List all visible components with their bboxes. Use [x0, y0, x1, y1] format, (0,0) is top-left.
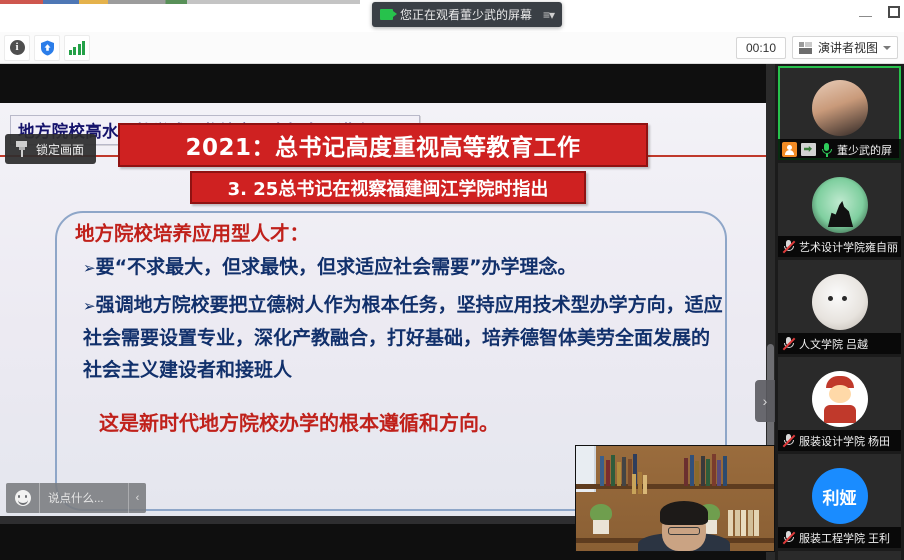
meeting-timer: 00:10	[736, 37, 786, 59]
person-icon	[782, 142, 797, 157]
layout-icon	[799, 42, 813, 54]
participant-tile[interactable]: 利娅 服装工程学院 王利	[778, 454, 901, 548]
participant-name: 服装设计学院 杨田	[799, 433, 890, 449]
screen-share-icon	[801, 143, 816, 156]
mic-off-icon	[782, 337, 795, 351]
view-mode-label: 演讲者视图	[818, 39, 878, 56]
panel-collapse-toggle[interactable]: ›	[755, 380, 775, 422]
slide-lead-line: 地方院校培养应用型人才：	[75, 217, 309, 246]
screen-share-icon	[380, 9, 393, 20]
participant-tile[interactable]: 艺术设计学院雍自丽	[778, 163, 901, 257]
bullet-marker-icon: ➢	[83, 259, 96, 277]
info-icon[interactable]: i	[4, 35, 30, 61]
slide-banner-main: 2021：总书记高度重视高等教育工作	[118, 123, 648, 167]
slide-bullet-1-text: 要“不求最大，但求最快，但求适应社会需要”办学理念。	[96, 256, 577, 278]
slide-bullet-2-text: 强调地方院校要把立德树人作为根本任务，坚持应用技术型办学方向，适应社会需要设置专…	[83, 294, 723, 381]
bookshelf-props	[684, 452, 727, 486]
browser-tab-strip-remnant	[0, 0, 360, 4]
share-banner-text: 您正在观看董少武的屏幕	[400, 6, 532, 23]
view-mode-selector[interactable]: 演讲者视图	[792, 36, 898, 59]
mic-off-icon	[782, 434, 795, 448]
participant-nameplate: 人文学院 吕越	[778, 333, 901, 354]
glasses-prop	[668, 527, 700, 535]
slide-bullet-2: ➢强调地方院校要把立德树人作为根本任务，坚持应用技术型办学方向，适应社会需要设置…	[83, 289, 728, 386]
chat-composer[interactable]: 说点什么... ‹	[6, 483, 146, 513]
avatar	[812, 177, 868, 233]
participant-name: 服装工程学院 王利	[799, 530, 890, 546]
more-menu-icon[interactable]: ≡▾	[539, 8, 554, 22]
network-signal-icon[interactable]	[64, 35, 90, 61]
participant-nameplate: 董少武的屏	[778, 139, 901, 160]
toolbar-left-group: i	[0, 35, 90, 61]
lock-screen-label: 锁定画面	[36, 141, 84, 158]
participant-tile[interactable]: 人文学院 吕越	[778, 260, 901, 354]
participant-tile[interactable]: 服装设计学院 杨田	[778, 357, 901, 451]
lock-screen-button[interactable]: 锁定画面	[5, 134, 96, 164]
shared-screen-stage[interactable]: 锁定画面 地方院校高水平教学成果奖培育与申报专题讲座 2021：总书记高度重视高…	[0, 64, 775, 560]
emoji-icon[interactable]	[6, 483, 40, 513]
slide-banner-sub-text: 3. 25总书记在视察福建闽江学院时指出	[228, 175, 549, 201]
bookshelf-props	[632, 460, 647, 494]
plant-prop	[590, 504, 612, 534]
meeting-window: 您正在观看董少武的屏幕 ≡▾ i 00:	[0, 0, 904, 560]
composer-collapse-icon[interactable]: ‹	[128, 483, 146, 513]
chevron-down-icon	[883, 46, 891, 50]
participant-nameplate: 艺术设计学院雍自丽	[778, 236, 901, 257]
bullet-marker-icon: ➢	[83, 297, 96, 315]
pin-icon	[15, 141, 28, 157]
participant-name: 人文学院 吕越	[799, 336, 868, 352]
participant-name: 董少武的屏	[837, 142, 892, 158]
slide-banner-main-text: 2021：总书记高度重视高等教育工作	[185, 128, 580, 162]
avatar	[812, 80, 868, 136]
screen-share-banner[interactable]: 您正在观看董少武的屏幕 ≡▾	[372, 2, 562, 27]
presenter-video-pip[interactable]	[575, 445, 775, 552]
participant-rail[interactable]: 董少武的屏 艺术设计学院雍自丽 人文学院 吕越 服装设计学院 杨田	[775, 64, 904, 560]
mic-on-icon	[820, 143, 833, 157]
participant-tile[interactable]: 董少武的屏	[778, 66, 901, 160]
avatar	[812, 274, 868, 330]
bookshelf-props	[728, 508, 759, 536]
slide-banner-sub: 3. 25总书记在视察福建闽江学院时指出	[190, 171, 586, 204]
avatar-initials: 利娅	[812, 468, 868, 524]
avatar	[812, 371, 868, 427]
toolbar-right-group: 00:10 演讲者视图	[736, 36, 904, 59]
participant-name: 艺术设计学院雍自丽	[799, 239, 898, 255]
participant-nameplate: 服装工程学院 王利	[778, 527, 901, 548]
mic-off-icon	[782, 240, 795, 254]
participant-nameplate: 服装设计学院 杨田	[778, 430, 901, 451]
mic-off-icon	[782, 531, 795, 545]
maximize-button[interactable]	[888, 6, 900, 18]
slide-bullet-1: ➢要“不求最大，但求最快，但求适应社会需要”办学理念。	[83, 251, 723, 284]
minimize-button[interactable]	[859, 16, 872, 17]
slide-closing-line: 这是新时代地方院校办学的根本遵循和方向。	[99, 408, 719, 438]
avatar: 利娅	[812, 468, 868, 524]
chat-input[interactable]: 说点什么...	[40, 490, 128, 506]
meeting-toolbar: i 00:10 演讲	[0, 32, 904, 64]
security-shield-icon[interactable]	[34, 35, 60, 61]
participant-tile[interactable]	[778, 551, 901, 560]
window-controls	[859, 6, 900, 18]
